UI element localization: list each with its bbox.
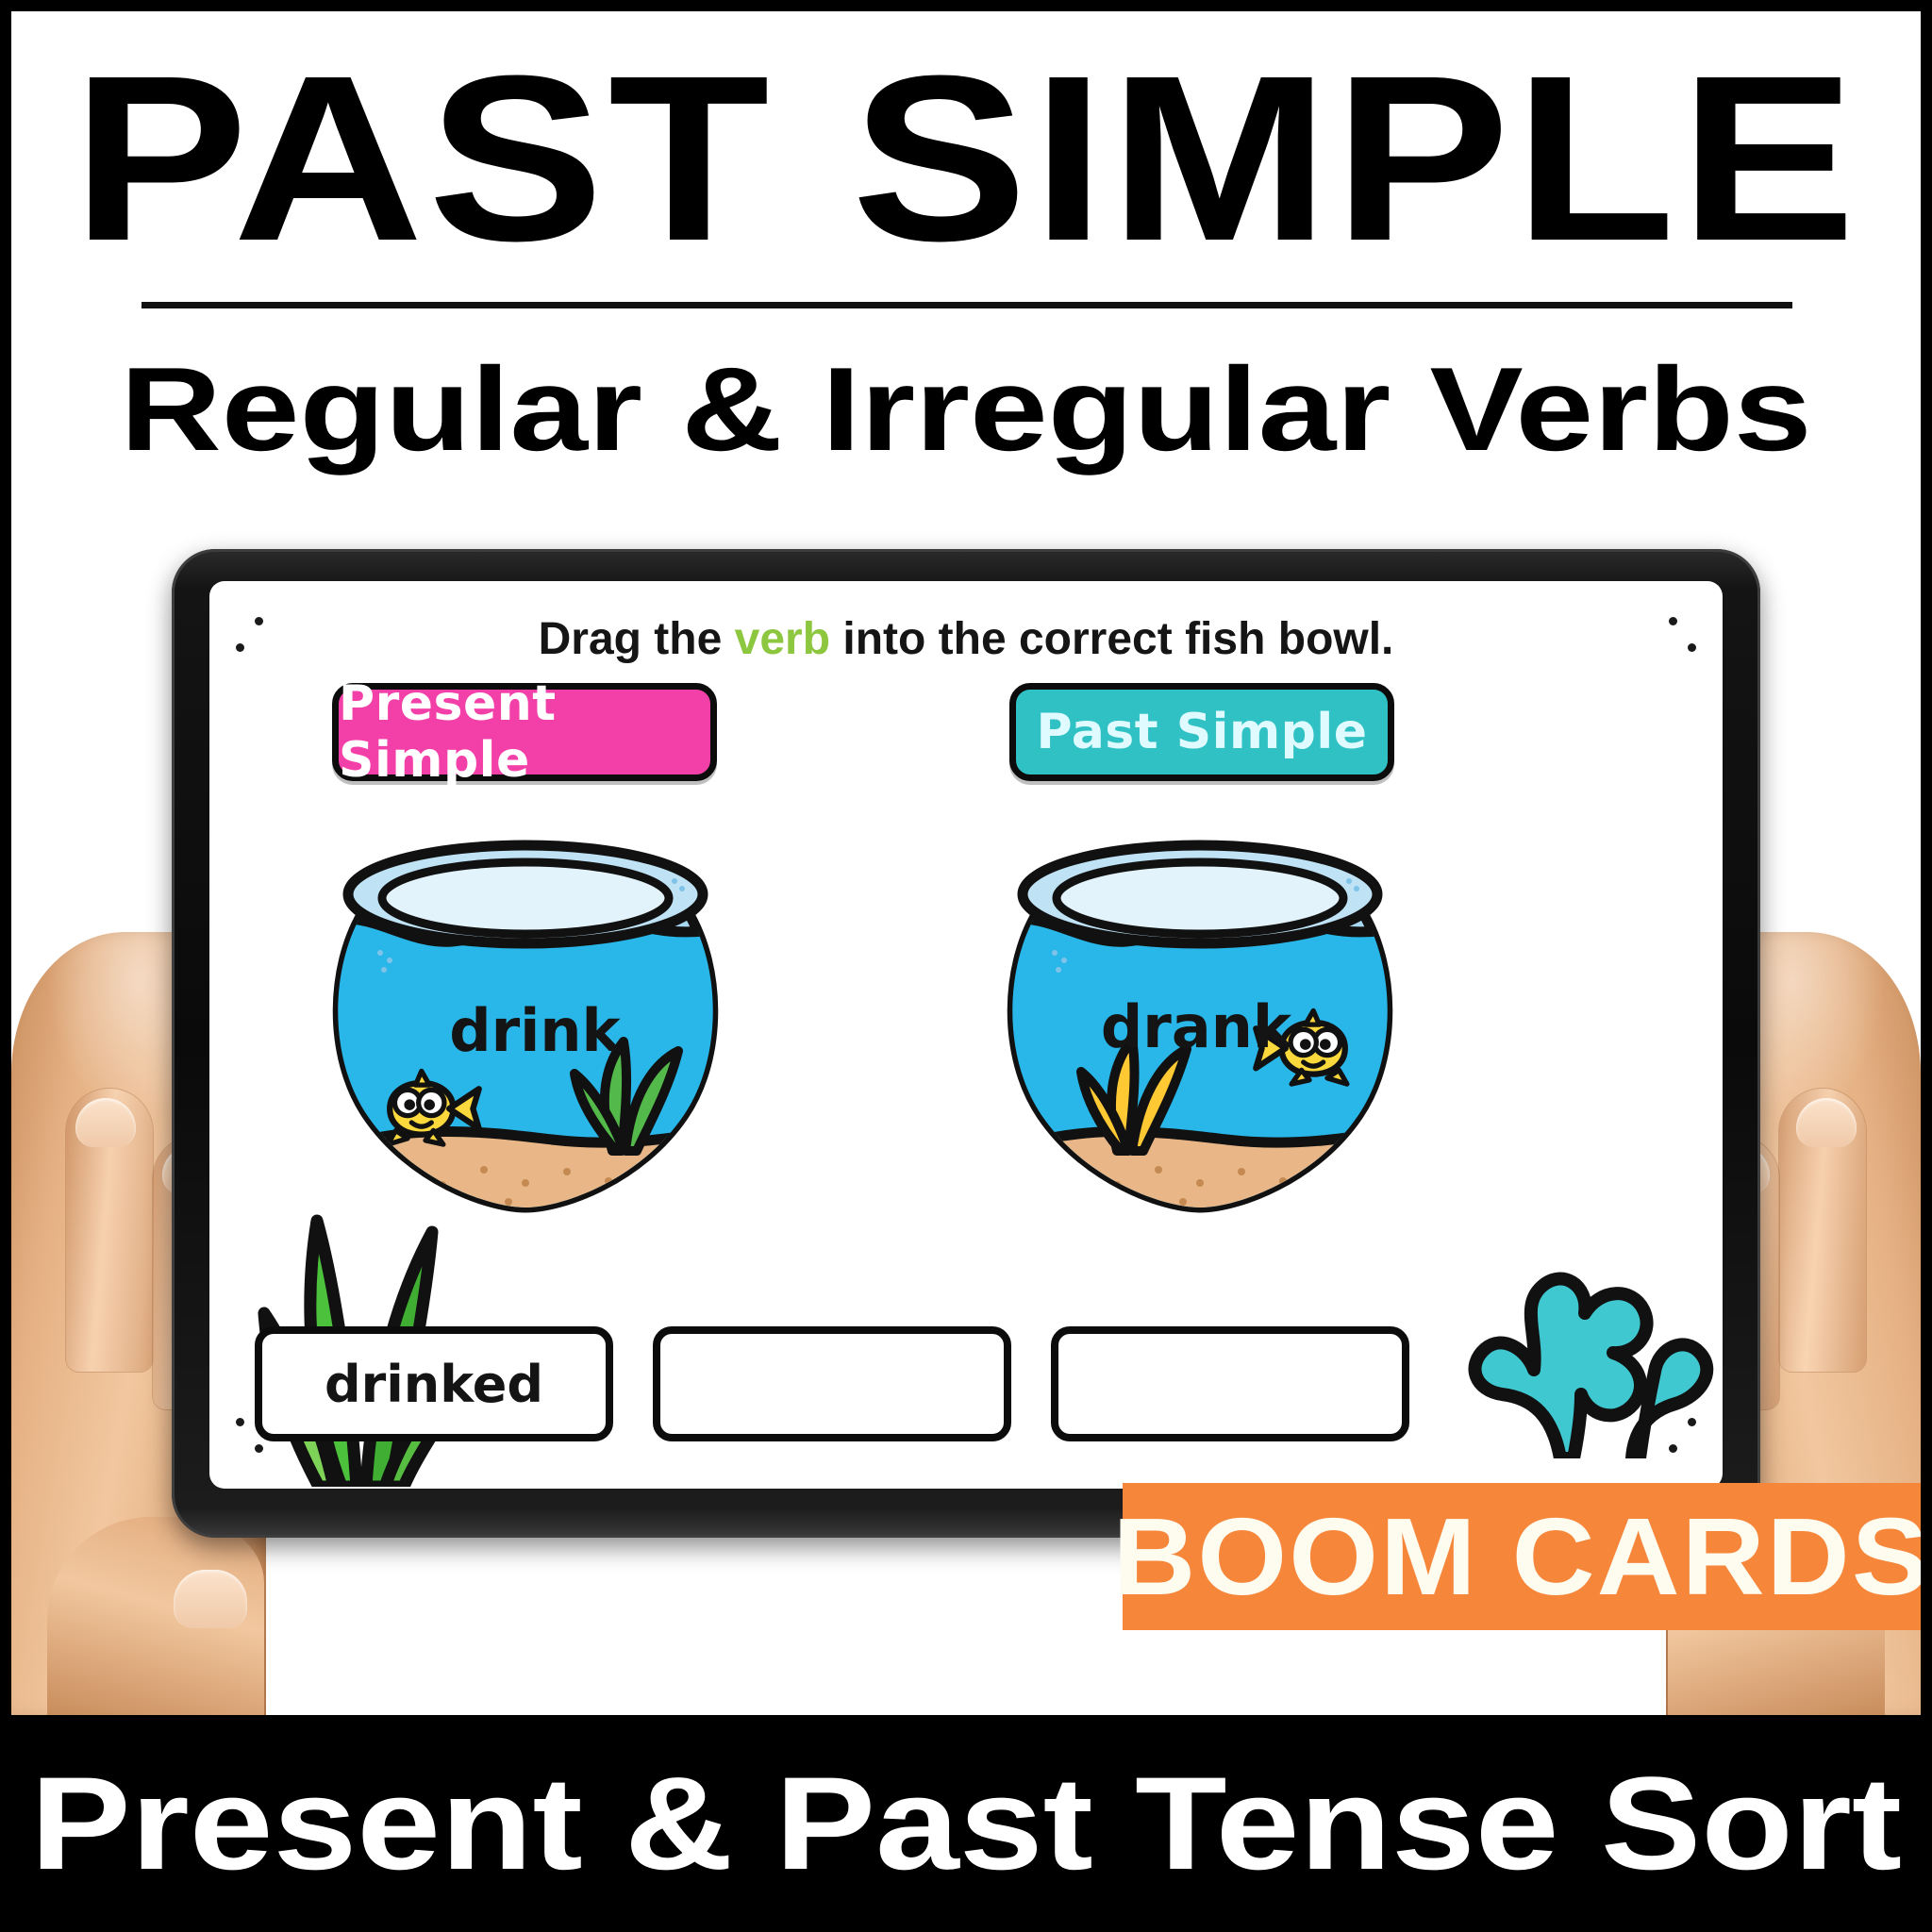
white-canvas: PAST SIMPLE Regular & Irregular Verbs — [11, 11, 1921, 1715]
title-divider — [142, 302, 1792, 308]
boom-cards-label: BOOM CARDS — [1113, 1500, 1921, 1613]
header: PAST SIMPLE Regular & Irregular Verbs — [11, 11, 1921, 502]
answer-card-label: drinked — [325, 1355, 543, 1414]
page-subtitle: Regular & Irregular Verbs — [11, 346, 1921, 473]
bowl-word-label: drink — [449, 996, 622, 1065]
photo-backdrop: Drag the verb into the correct fish bowl… — [11, 502, 1921, 1715]
fish-bowl-icon: drank — [974, 804, 1426, 1228]
thumbnail — [174, 1570, 247, 1628]
product-cover: PAST SIMPLE Regular & Irregular Verbs — [0, 0, 1932, 1932]
coral-decoration-icon — [1447, 1147, 1723, 1458]
answer-card[interactable] — [653, 1326, 1011, 1441]
category-button-past-simple[interactable]: Past Simple — [1009, 683, 1394, 781]
answer-card[interactable] — [1051, 1326, 1409, 1441]
boom-card-surface: Drag the verb into the correct fish bowl… — [209, 581, 1723, 1489]
answer-card[interactable]: drinked — [255, 1326, 613, 1441]
tablet-screen[interactable]: Drag the verb into the correct fish bowl… — [209, 581, 1723, 1489]
thumb — [47, 1517, 264, 1715]
category-label: Past Simple — [1037, 704, 1368, 760]
category-button-present-simple[interactable]: Present Simple — [332, 683, 717, 781]
category-label: Present Simple — [339, 675, 710, 789]
footer-banner: Present & Past Tense Sort — [0, 1715, 1932, 1932]
fish-bowl-past-simple[interactable]: drank — [974, 804, 1426, 1228]
instruction-highlight-verb: verb — [735, 614, 830, 664]
instruction-text: Drag the verb into the correct fish bowl… — [209, 613, 1723, 666]
footer-banner-text: Present & Past Tense Sort — [30, 1753, 1902, 1894]
instruction-suffix: into the correct fish bowl. — [830, 614, 1393, 664]
page-title: PAST SIMPLE — [11, 38, 1921, 279]
tablet-device: Drag the verb into the correct fish bowl… — [172, 549, 1760, 1538]
instruction-prefix: Drag the — [539, 614, 735, 664]
bowl-word-label: drank — [1101, 992, 1293, 1061]
boom-cards-badge: BOOM CARDS — [1123, 1483, 1921, 1630]
